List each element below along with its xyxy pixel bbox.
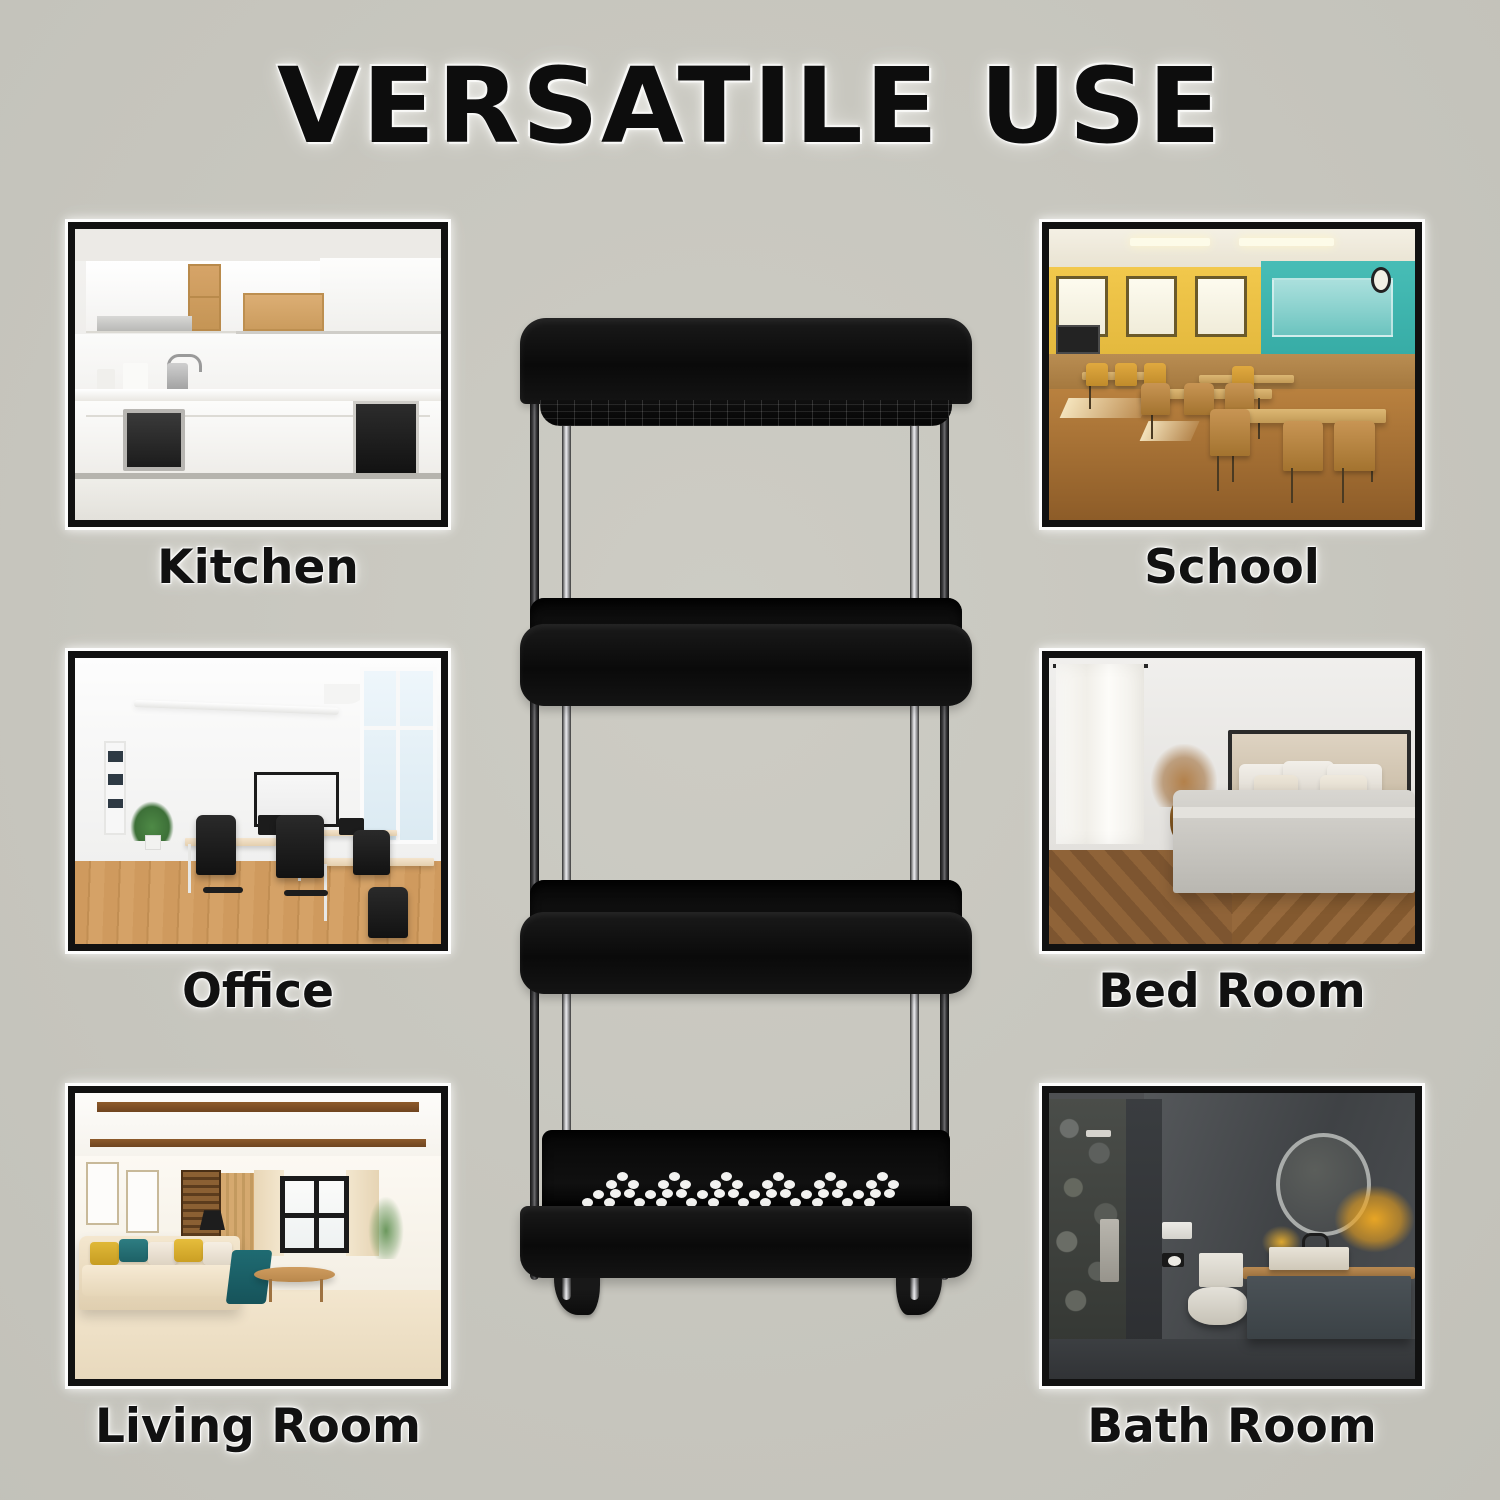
rolling-storage-cart[interactable]: [506, 300, 996, 1325]
office-label: Office: [68, 964, 448, 1019]
cart-basket-tier-2: [520, 624, 972, 706]
office-photo: [75, 658, 441, 944]
cart-basket-tier-4: [520, 1206, 972, 1278]
office-photo-frame: [68, 651, 448, 951]
use-case-livingroom[interactable]: Living Room: [68, 1086, 448, 1454]
kitchen-label: Kitchen: [68, 540, 448, 595]
bathroom-photo-frame: [1042, 1086, 1422, 1386]
use-case-bedroom[interactable]: Bed Room: [1042, 651, 1422, 1019]
school-photo: [1049, 229, 1415, 520]
kitchen-photo-frame: [68, 222, 448, 527]
kitchen-photo: [75, 229, 441, 520]
bathroom-photo: [1049, 1093, 1415, 1379]
page-title: VERSATILE USE: [0, 52, 1500, 161]
livingroom-photo-frame: [68, 1086, 448, 1386]
bedroom-label: Bed Room: [1042, 964, 1422, 1019]
cart-post-back-left: [530, 400, 539, 1280]
use-case-office[interactable]: Office: [68, 651, 448, 1019]
cart-tier-1-mesh-base: [540, 400, 952, 426]
cart-basket-tier-3: [520, 912, 972, 994]
use-case-school[interactable]: School: [1042, 222, 1422, 595]
bedroom-photo: [1049, 658, 1415, 944]
use-case-bathroom[interactable]: Bath Room: [1042, 1086, 1422, 1454]
school-photo-frame: [1042, 222, 1422, 527]
bathroom-label: Bath Room: [1042, 1399, 1422, 1454]
livingroom-label: Living Room: [68, 1399, 448, 1454]
bedroom-photo-frame: [1042, 651, 1422, 951]
school-label: School: [1042, 540, 1422, 595]
cart-basket-tier-1: [520, 318, 972, 404]
versatile-use-poster: VERSATILE USE: [0, 0, 1500, 1500]
livingroom-photo: [75, 1093, 441, 1379]
use-case-kitchen[interactable]: Kitchen: [68, 222, 448, 595]
